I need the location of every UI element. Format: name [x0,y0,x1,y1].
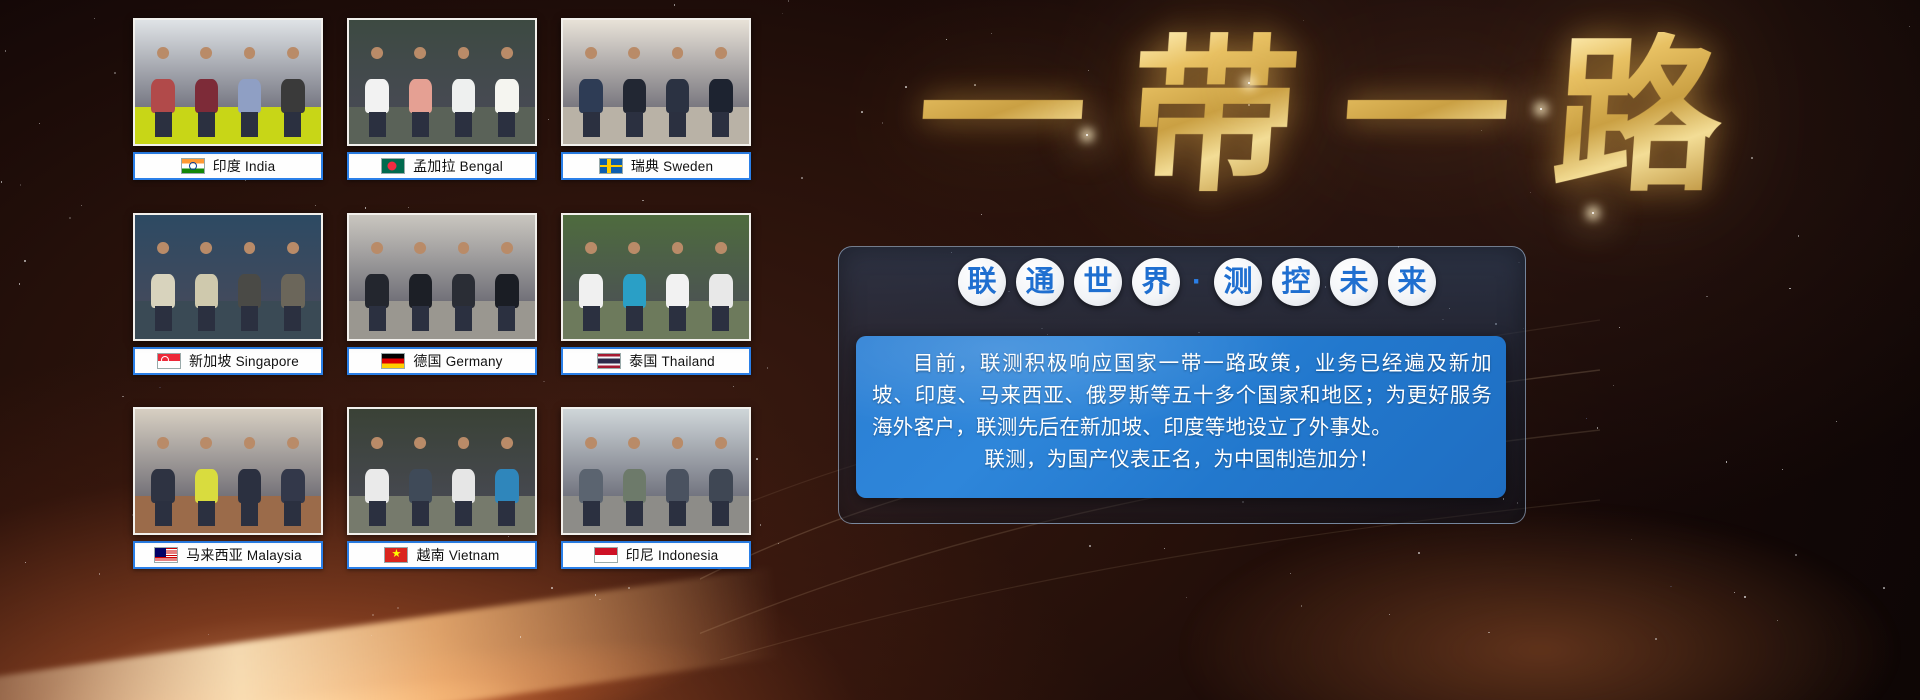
country-photo [133,213,323,341]
sparkle-icon [1540,108,1542,110]
person-silhouette [192,437,222,526]
description-paragraph-2: 联测，为国产仪表正名，为中国制造加分！ [872,444,1492,476]
person-silhouette [449,242,479,331]
country-name-en: Germany [442,354,503,369]
person-silhouette [492,437,522,526]
person-silhouette [235,242,265,331]
country-card[interactable]: 马来西亚 Malaysia [133,407,323,584]
country-photo [561,213,751,341]
country-caption: 孟加拉 Bengal [347,152,537,180]
person-silhouette [362,47,392,136]
flag-sweden-icon [599,158,623,174]
country-card[interactable]: 德国 Germany [347,213,537,390]
photo-people [563,47,749,136]
country-name-cn: 孟加拉 [413,158,456,174]
slogan-char-2: 通 [1016,258,1064,306]
flag-indonesia-icon [594,547,618,563]
person-silhouette [235,437,265,526]
country-photo [561,18,751,146]
country-label: 越南 Vietnam [416,545,499,565]
country-label: 印尼 Indonesia [626,545,719,565]
person-silhouette [706,437,736,526]
flag-india-icon [181,158,205,174]
flag-vietnam-icon [384,547,408,563]
slogan-char-6: 测 [1214,258,1262,306]
flag-germany-icon [381,353,405,369]
country-caption: 新加坡 Singapore [133,347,323,375]
country-card[interactable]: 印尼 Indonesia [561,407,751,584]
person-silhouette [406,437,436,526]
photo-people [135,242,321,331]
country-label: 印度 India [213,156,276,176]
headline-belt-and-road: 一带一路 [850,16,1790,216]
slogan-char-9: 来 [1388,258,1436,306]
country-label: 马来西亚 Malaysia [186,545,302,565]
description-text: 目前，联测积极响应国家一带一路政策，业务已经遍及新加坡、印度、马来西亚、俄罗斯等… [856,336,1506,476]
slogan-char-3: 世 [1074,258,1122,306]
person-silhouette [706,47,736,136]
slogan-char-7: 控 [1272,258,1320,306]
photo-people [349,242,535,331]
flag-malaysia-icon [154,547,178,563]
person-silhouette [663,242,693,331]
slogan-circles: 联通世界·测控未来 [958,258,1436,306]
country-label: 德国 Germany [413,351,502,371]
photo-people [563,242,749,331]
country-photo [133,407,323,535]
person-silhouette [663,47,693,136]
country-name-cn: 瑞典 [631,158,659,174]
person-silhouette [278,437,308,526]
country-label: 瑞典 Sweden [631,156,713,176]
sparkle-icon [1086,134,1088,136]
person-silhouette [362,437,392,526]
country-name-en: Thailand [658,354,715,369]
description-paragraph-1: 目前，联测积极响应国家一带一路政策，业务已经遍及新加坡、印度、马来西亚、俄罗斯等… [872,348,1492,444]
country-caption: 泰国 Thailand [561,347,751,375]
country-photo [347,18,537,146]
person-silhouette [235,47,265,136]
country-name-en: Vietnam [445,548,500,563]
country-name-en: Indonesia [654,548,718,563]
person-silhouette [278,47,308,136]
person-silhouette [620,242,650,331]
country-caption: 德国 Germany [347,347,537,375]
country-caption: 印度 India [133,152,323,180]
country-label: 新加坡 Singapore [189,351,299,371]
country-name-cn: 印度 [213,158,241,174]
flag-bangladesh-icon [381,158,405,174]
country-name-en: India [241,159,275,174]
country-gallery-grid: 印度 India孟加拉 Bengal瑞典 Sweden新加坡 Singapore… [133,18,753,584]
headline-char-4: 路 [1548,32,1728,200]
country-name-cn: 德国 [413,353,441,369]
country-name-cn: 越南 [416,547,444,563]
person-silhouette [492,47,522,136]
country-photo [347,213,537,341]
person-silhouette [449,47,479,136]
country-card[interactable]: 印度 India [133,18,323,195]
country-caption: 印尼 Indonesia [561,541,751,569]
headline-char-1: 一 [912,32,1092,200]
banner-stage: 印度 India孟加拉 Bengal瑞典 Sweden新加坡 Singapore… [0,0,1920,700]
person-silhouette [706,242,736,331]
country-name-en: Sweden [659,159,713,174]
country-card[interactable]: 瑞典 Sweden [561,18,751,195]
country-photo [561,407,751,535]
country-name-cn: 新加坡 [189,353,232,369]
flag-singapore-icon [157,353,181,369]
person-silhouette [492,242,522,331]
country-card[interactable]: 泰国 Thailand [561,213,751,390]
photo-people [135,437,321,526]
slogan-char-8: 未 [1330,258,1378,306]
country-name-cn: 马来西亚 [186,547,243,563]
sparkle-icon [1592,212,1594,214]
photo-people [349,437,535,526]
slogan-separator-dot: · [1190,265,1204,299]
country-card[interactable]: 越南 Vietnam [347,407,537,584]
person-silhouette [278,242,308,331]
person-silhouette [620,47,650,136]
person-silhouette [148,242,178,331]
country-card[interactable]: 孟加拉 Bengal [347,18,537,195]
country-photo [347,407,537,535]
country-name-en: Singapore [232,354,299,369]
country-name-cn: 印尼 [626,547,654,563]
country-photo [133,18,323,146]
person-silhouette [192,242,222,331]
slogan-char-1: 联 [958,258,1006,306]
country-caption: 越南 Vietnam [347,541,537,569]
country-name-en: Bengal [456,159,503,174]
person-silhouette [620,437,650,526]
person-silhouette [449,437,479,526]
person-silhouette [576,242,606,331]
right-content: 一带一路 联通世界·测控未来 目前，联测积极响应国家一带一路政策，业务已经遍及新… [760,0,1920,700]
person-silhouette [406,242,436,331]
person-silhouette [663,437,693,526]
person-silhouette [406,47,436,136]
sparkle-icon [1248,82,1250,84]
country-card[interactable]: 新加坡 Singapore [133,213,323,390]
country-caption: 马来西亚 Malaysia [133,541,323,569]
photo-people [135,47,321,136]
person-silhouette [362,242,392,331]
slogan-char-4: 界 [1132,258,1180,306]
description-panel: 目前，联测积极响应国家一带一路政策，业务已经遍及新加坡、印度、马来西亚、俄罗斯等… [856,336,1506,498]
person-silhouette [576,47,606,136]
photo-people [563,437,749,526]
person-silhouette [192,47,222,136]
country-label: 泰国 Thailand [629,351,715,371]
country-name-en: Malaysia [243,548,302,563]
photo-people [349,47,535,136]
country-label: 孟加拉 Bengal [413,156,503,176]
country-name-cn: 泰国 [629,353,657,369]
country-caption: 瑞典 Sweden [561,152,751,180]
headline-char-2: 带 [1124,32,1304,200]
person-silhouette [148,47,178,136]
headline-char-3: 一 [1336,32,1516,200]
person-silhouette [576,437,606,526]
person-silhouette [148,437,178,526]
flag-thailand-icon [597,353,621,369]
